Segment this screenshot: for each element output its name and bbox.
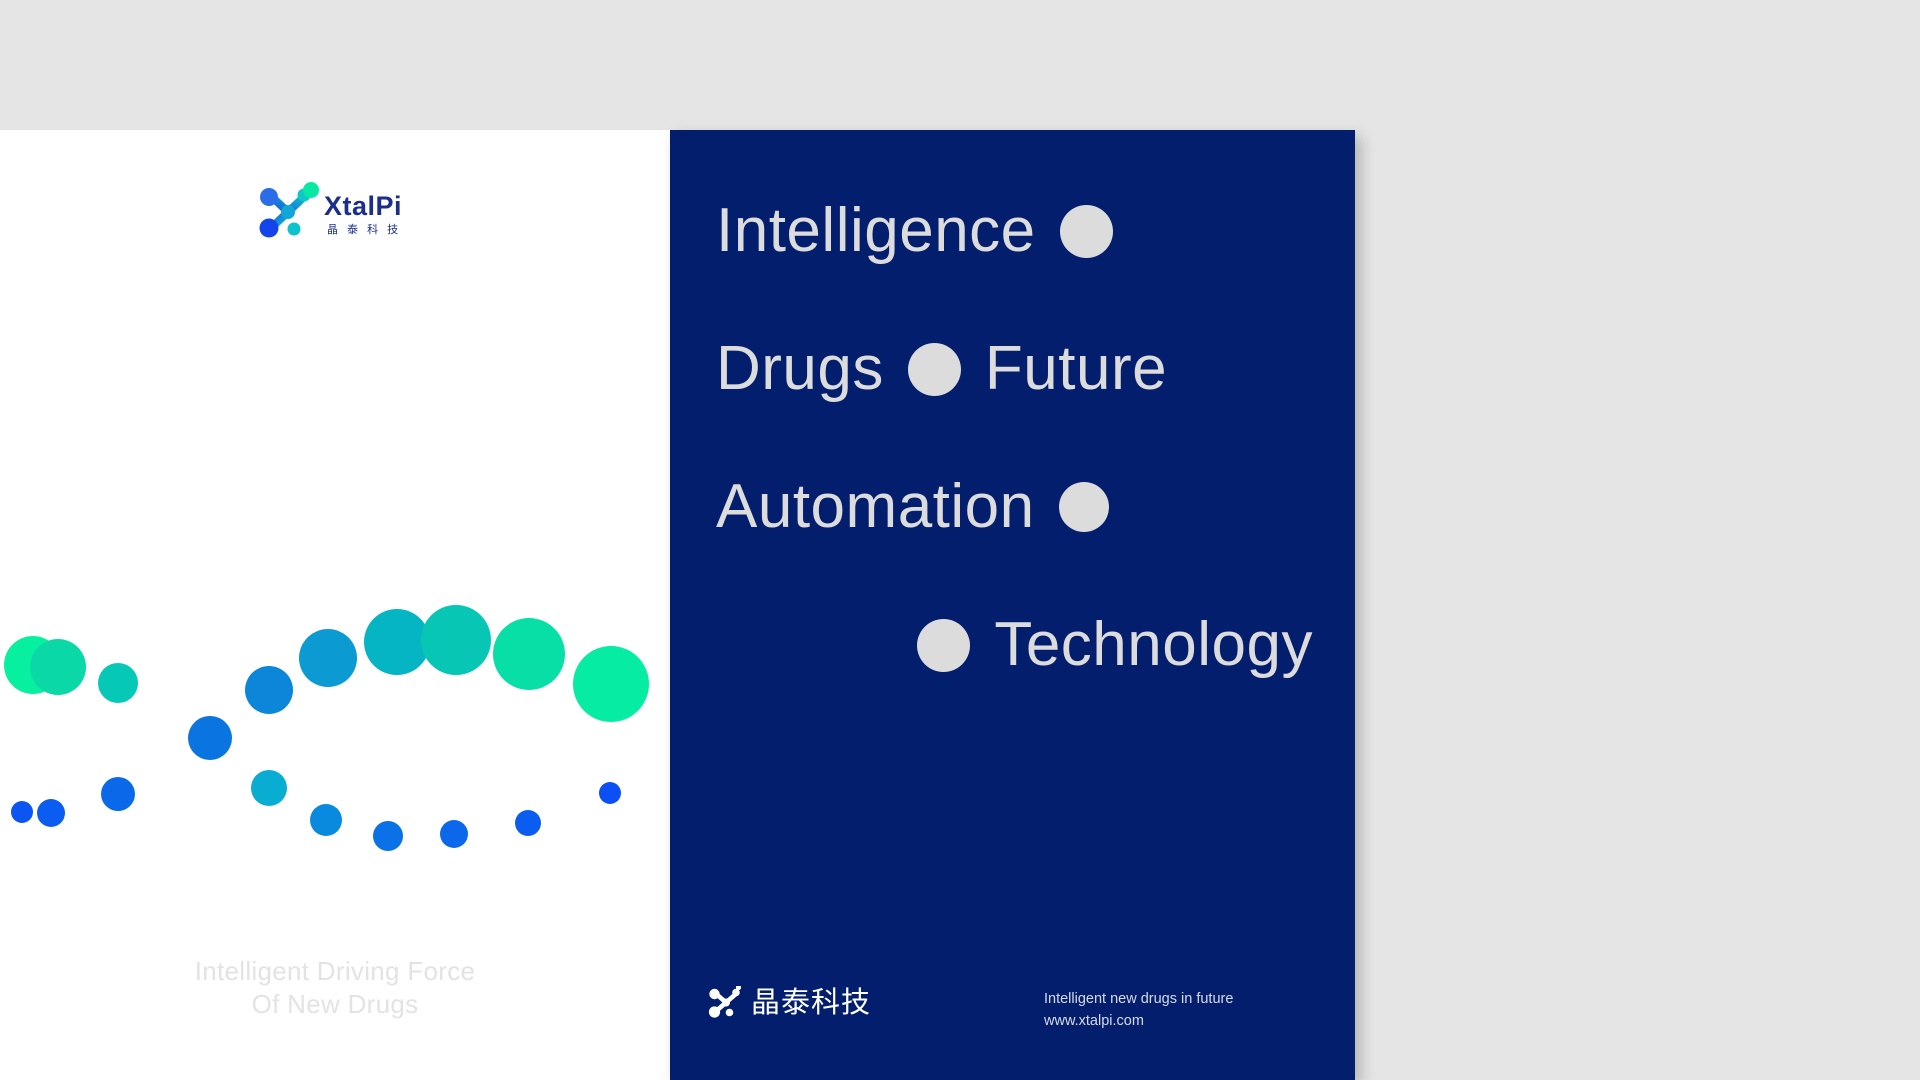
decorative-dot-16 — [440, 820, 468, 848]
decorative-dot-2 — [98, 663, 138, 703]
tagline: Intelligent Driving Force Of New Drugs — [0, 955, 670, 1020]
headline-word-technology: Technology — [994, 614, 1313, 676]
headline-word-future: Future — [985, 338, 1167, 400]
tagline-line-1: Intelligent Driving Force — [0, 955, 670, 988]
headline-block: Intelligence Drugs Future Automation Tec… — [670, 162, 1355, 714]
decorative-dot-4 — [245, 666, 293, 714]
decorative-dot-9 — [573, 646, 649, 722]
decorative-dot-7 — [421, 605, 491, 675]
decorative-dot-1 — [30, 639, 86, 695]
decorative-dot-14 — [310, 804, 342, 836]
decorative-dot-13 — [251, 770, 287, 806]
decorative-dot-6 — [364, 609, 430, 675]
decorative-dot-12 — [101, 777, 135, 811]
decorative-dot-17 — [515, 810, 541, 836]
decorative-dot-11 — [37, 799, 65, 827]
headline-row-automation: Automation — [670, 438, 1355, 576]
decorative-dot-3 — [188, 716, 232, 760]
headline-row-technology: Technology — [670, 576, 1355, 714]
footer-chinese-name: 晶泰科技 — [751, 989, 871, 1018]
headline-bullet-dot-icon — [917, 619, 970, 672]
decorative-dot-18 — [599, 782, 621, 804]
headline-bullet-dot-icon — [908, 343, 961, 396]
headline-bullet-dot-icon — [1059, 482, 1109, 532]
molecule-dot-pattern — [0, 130, 670, 1080]
headline-bullet-dot-icon — [1060, 205, 1113, 258]
right-navy-panel: Intelligence Drugs Future Automation Tec… — [670, 130, 1355, 1080]
headline-word-drugs: Drugs — [716, 338, 884, 400]
left-white-panel: XtalPi 晶 泰 科 技 Intelligent Driving Force… — [0, 130, 670, 1080]
decorative-dot-8 — [493, 618, 565, 690]
footer-website: www.xtalpi.com — [1044, 1010, 1233, 1032]
footer-meta: Intelligent new drugs in future www.xtal… — [1044, 988, 1233, 1033]
decorative-dot-15 — [373, 821, 403, 851]
decorative-dot-5 — [299, 629, 357, 687]
xtalpi-molecule-logo-white-icon — [708, 986, 744, 1020]
tagline-line-2: Of New Drugs — [0, 988, 670, 1021]
footer-slogan: Intelligent new drugs in future — [1044, 988, 1233, 1010]
headline-word-intelligence: Intelligence — [716, 200, 1036, 262]
footer-brand: 晶泰科技 — [708, 986, 871, 1020]
poster-root: XtalPi 晶 泰 科 技 Intelligent Driving Force… — [0, 0, 1920, 1080]
decorative-dot-10 — [11, 801, 33, 823]
headline-row-drugs-future: Drugs Future — [670, 300, 1355, 438]
headline-word-automation: Automation — [716, 476, 1035, 538]
panel-footer: 晶泰科技 Intelligent new drugs in future www… — [670, 980, 1355, 1044]
headline-row-intelligence: Intelligence — [670, 162, 1355, 300]
